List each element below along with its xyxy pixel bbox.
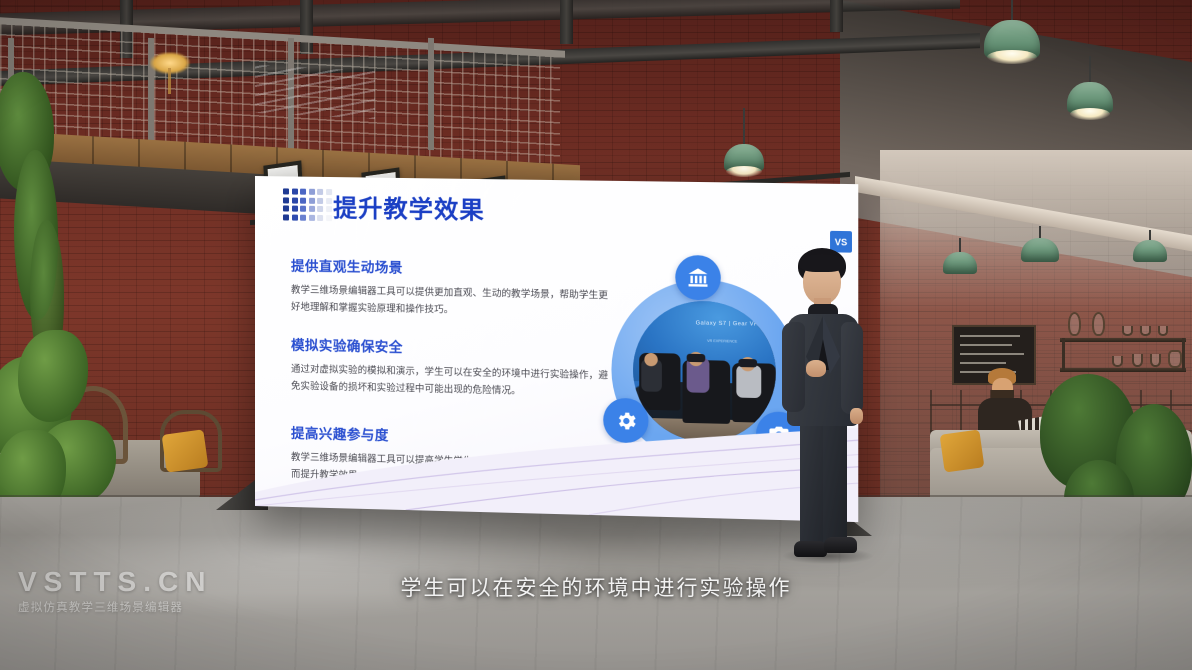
section-1-heading: 提供直观生动场景 [291,255,616,281]
beam-post-3 [560,0,573,44]
cafe-glass [1132,354,1143,367]
photo-subcaption: VR EXPERIENCE [707,339,737,344]
slide-wave-decoration [255,396,858,522]
section-2-body: 通过对虚拟实验的模拟和演示，学生可以在安全的环境中进行实验操作，避免实验设备的损… [291,361,616,402]
beam-post-4 [830,0,843,32]
cafe-shelf-lower [1060,368,1186,372]
cafe-cup [1158,326,1168,336]
presenter-right-leg [823,420,847,546]
cafe-shelf-upper [1060,338,1186,342]
shelf-leg [1062,338,1065,370]
pendant-shade [1133,240,1167,262]
cafe-carafe [1168,350,1182,368]
pendant-shade [943,252,977,274]
slide-section-2: 模拟实验确保安全 通过对虚拟实验的模拟和演示，学生可以在安全的环境中进行实验操作… [291,334,616,402]
pendant-cord [743,108,745,146]
coffee-syphon [1092,312,1105,336]
slide-title: 提升教学效果 [333,188,485,225]
cafe-cup [1140,326,1151,336]
shelf-leg [1182,338,1185,370]
mezzanine-post [428,38,434,150]
photo-caption: Galaxy S7 | Gear VR [696,321,759,328]
bank-icon [687,266,710,289]
presenter-fringe [799,254,845,272]
presenter-right-hand [850,408,863,424]
vr-staff-head [644,353,657,366]
pendant-glow [987,50,1037,64]
presenter-left-leg [800,420,824,546]
presenter-right-arm [841,322,863,414]
vr-headset [687,354,706,363]
pendant-glow [726,166,762,177]
slide-section-1: 提供直观生动场景 教学三维场景编辑器工具可以提供更加直观、生动的教学场景，帮助学… [291,255,616,322]
pendant-glow [1070,108,1110,120]
sofa-cushion [940,429,985,472]
pendant-cord [1011,0,1013,22]
pendant-cord [1089,56,1091,84]
virtual-presenter [770,248,875,570]
vr-headset [738,359,757,368]
pendant-shade [1021,238,1059,262]
chair-cushion [162,429,209,472]
video-frame: 提升教学效果 VS 提供直观生动场景 教学三维场景编辑器工具可以提供更加直观、生… [0,0,1192,670]
presenter-right-shoe [824,537,857,553]
section-1-body: 教学三维场景编辑器工具可以提供更加直观、生动的教学场景，帮助学生更好地理解和掌握… [291,282,616,322]
cafe-cup [1122,326,1133,336]
wall-sconce-stem [168,68,171,94]
dot-grid-logo-icon [283,188,332,220]
presentation-screen[interactable]: 提升教学效果 VS 提供直观生动场景 教学三维场景编辑器工具可以提供更加直观、生… [255,176,858,522]
cafe-cup [1112,356,1123,367]
coffee-syphon [1068,312,1081,336]
cafe-glass [1150,354,1161,367]
presenter-left-hand [806,360,826,377]
mezzanine-staircase [255,65,375,119]
presenter-left-shoe [794,541,827,557]
bank-icon-badge[interactable] [675,255,720,301]
presenter-left-arm [782,322,805,412]
subtitle-caption: 学生可以在安全的环境中进行实验操作 [0,572,1192,602]
section-2-heading: 模拟实验确保安全 [291,334,616,361]
